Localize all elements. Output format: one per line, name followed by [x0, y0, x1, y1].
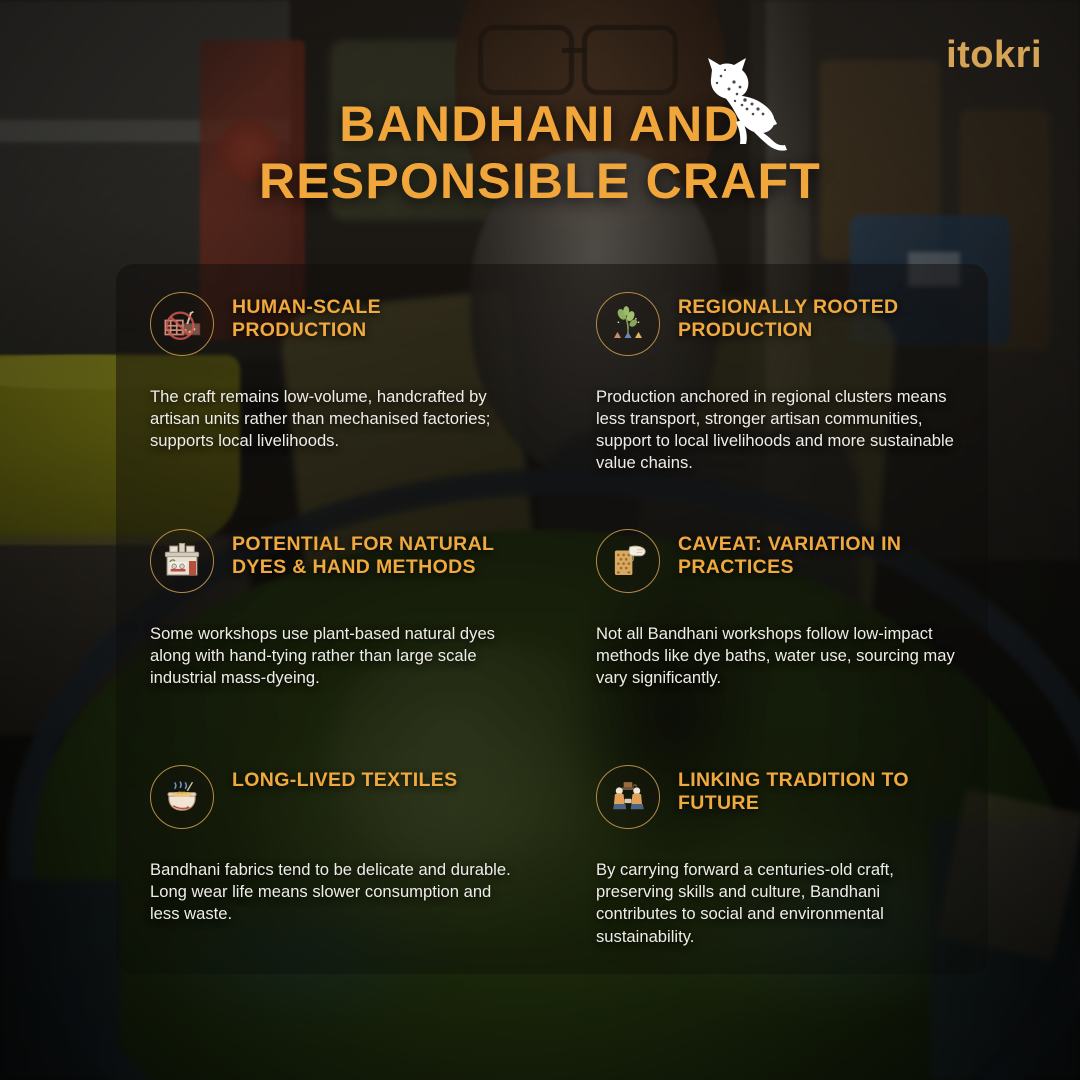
card-potential-natural-dyes: POTENTIAL FOR NATURAL DYES & HAND METHOD…	[116, 501, 552, 738]
cards-grid: HUMAN-SCALE PRODUCTION The craft remains…	[116, 264, 988, 974]
card-header: REGIONALLY ROOTED PRODUCTION	[596, 292, 964, 356]
card-title: REGIONALLY ROOTED PRODUCTION	[678, 296, 928, 342]
card-regionally-rooted-production: REGIONALLY ROOTED PRODUCTION Production …	[552, 264, 988, 501]
content-panel: HUMAN-SCALE PRODUCTION The craft remains…	[116, 264, 988, 974]
card-header: LONG-LIVED TEXTILES	[150, 765, 522, 829]
title-line-2: RESPONSIBLE CRAFT	[259, 153, 821, 209]
title-block: BANDHANI AND RESPONSIBLE CRAFT	[0, 96, 1080, 210]
hand-holding-fabric-icon	[596, 529, 660, 593]
card-body: The craft remains low-volume, handcrafte…	[150, 386, 522, 452]
card-body: Production anchored in regional clusters…	[596, 386, 964, 474]
card-body: Bandhani fabrics tend to be delicate and…	[150, 859, 522, 925]
card-title: POTENTIAL FOR NATURAL DYES & HAND METHOD…	[232, 533, 500, 579]
seedling-sprout-icon	[596, 292, 660, 356]
no-factory-icon	[150, 292, 214, 356]
title-line-1: BANDHANI AND	[339, 96, 740, 152]
infographic-canvas: itokri BANDHANI AND RESPONSIBLE CRAFT	[0, 0, 1080, 1080]
card-header: POTENTIAL FOR NATURAL DYES & HAND METHOD…	[150, 529, 522, 593]
itokri-logo[interactable]: itokri	[946, 36, 1042, 74]
card-body: By carrying forward a centuries-old craf…	[596, 859, 964, 947]
steaming-dye-pot-icon	[150, 765, 214, 829]
card-header: HUMAN-SCALE PRODUCTION	[150, 292, 522, 356]
card-header: CAVEAT: VARIATION IN PRACTICES	[596, 529, 964, 593]
card-body: Some workshops use plant-based natural d…	[150, 623, 522, 689]
card-linking-tradition-future: LINKING TRADITION TO FUTURE By carrying …	[552, 737, 988, 974]
card-header: LINKING TRADITION TO FUTURE	[596, 765, 964, 829]
card-long-lived-textiles: LONG-LIVED TEXTILES Bandhani fabrics ten…	[116, 737, 552, 974]
card-body: Not all Bandhani workshops follow low-im…	[596, 623, 964, 689]
card-title: LINKING TRADITION TO FUTURE	[678, 769, 928, 815]
card-title: HUMAN-SCALE PRODUCTION	[232, 296, 500, 342]
card-caveat-variation-practices: CAVEAT: VARIATION IN PRACTICES Not all B…	[552, 501, 988, 738]
card-human-scale-production: HUMAN-SCALE PRODUCTION The craft remains…	[116, 264, 552, 501]
page-title: BANDHANI AND RESPONSIBLE CRAFT	[0, 96, 1080, 210]
card-title: CAVEAT: VARIATION IN PRACTICES	[678, 533, 928, 579]
two-artisans-icon	[596, 765, 660, 829]
workshop-building-icon	[150, 529, 214, 593]
card-title: LONG-LIVED TEXTILES	[232, 769, 458, 792]
